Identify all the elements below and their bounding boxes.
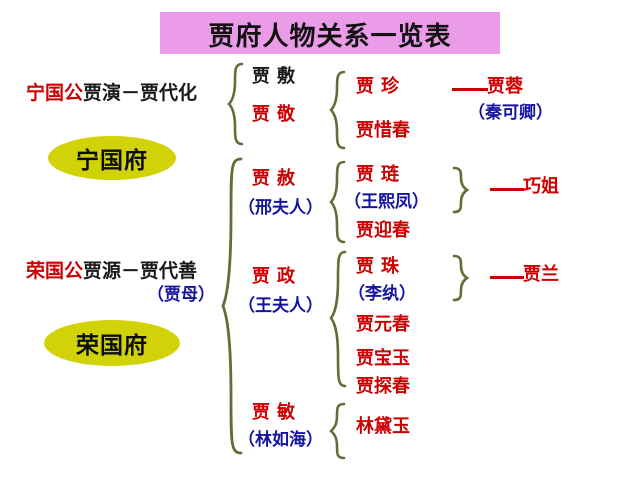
badge-rong-guo-fu: 荣国府 [44, 320, 180, 366]
brace-jialian-to-qiaojie [452, 166, 468, 214]
brace-jiazhu-to-jialan [452, 254, 468, 302]
person-jialan: 贾兰 [523, 266, 559, 285]
spouse-linruhai: （林如海） [238, 432, 323, 450]
person-jiashe: 贾赦 [252, 170, 302, 189]
person-jiayuanchun: 贾元春 [356, 316, 410, 335]
chart-canvas: 贾府人物关系一览表 宁国公贾演－贾代化 宁国府 贾敷 贾敬 贾珍 贾惜春 贾蓉 … [0, 0, 640, 480]
person-jiatanchun: 贾探春 [356, 378, 410, 397]
spouse-xingfuren: （邢夫人） [238, 200, 323, 218]
brace-jiajing-children [330, 70, 346, 150]
ning-ancestor-names: 贾演－贾代化 [83, 82, 197, 104]
person-jiazheng: 贾政 [252, 268, 302, 287]
badge-ning-guo-fu: 宁国府 [48, 136, 176, 180]
person-jiabaoyu: 贾宝玉 [356, 350, 410, 369]
connector-jiazhu-jialan [490, 276, 524, 279]
connector-jialian-qiaojie [490, 188, 524, 191]
rong-ancestor-names: 贾源－贾代善 [83, 260, 197, 282]
brace-ning-gen2 [228, 62, 244, 146]
spouse-lihuan: （李纨） [348, 286, 416, 304]
person-jiayingchun: 贾迎春 [356, 222, 410, 241]
rong-ancestor-line: 荣国公贾源－贾代善 [26, 262, 197, 282]
spouse-jiamu: （贾母） [147, 287, 215, 305]
person-jiarong: 贾蓉 [487, 78, 523, 97]
spouse-qinkeqing: （秦可卿） [468, 105, 553, 123]
ning-ancestor-line: 宁国公贾演－贾代化 [26, 84, 197, 104]
person-jiazhen: 贾珍 [356, 78, 406, 97]
person-jialian: 贾琏 [356, 166, 406, 185]
spouse-wangxifeng: （王熙凤） [344, 194, 429, 212]
brace-jiazheng-children [330, 250, 348, 390]
person-qiaojie: 巧姐 [523, 178, 559, 197]
brace-jiamin-children [330, 402, 346, 462]
person-jiamin: 贾敏 [252, 404, 302, 423]
person-jiazhu: 贾珠 [356, 258, 406, 277]
rong-ancestor-title: 荣国公 [26, 260, 83, 282]
spouse-wangfuren: （王夫人） [238, 298, 323, 316]
ning-ancestor-title: 宁国公 [26, 82, 83, 104]
person-jiajing: 贾敬 [252, 106, 302, 125]
person-jiaxichun: 贾惜春 [356, 122, 410, 141]
page-title: 贾府人物关系一览表 [160, 13, 500, 55]
person-jiafu: 贾敷 [252, 68, 302, 87]
connector-jiazhen-jiarong [452, 88, 488, 91]
person-lindaiyu: 林黛玉 [356, 418, 410, 437]
